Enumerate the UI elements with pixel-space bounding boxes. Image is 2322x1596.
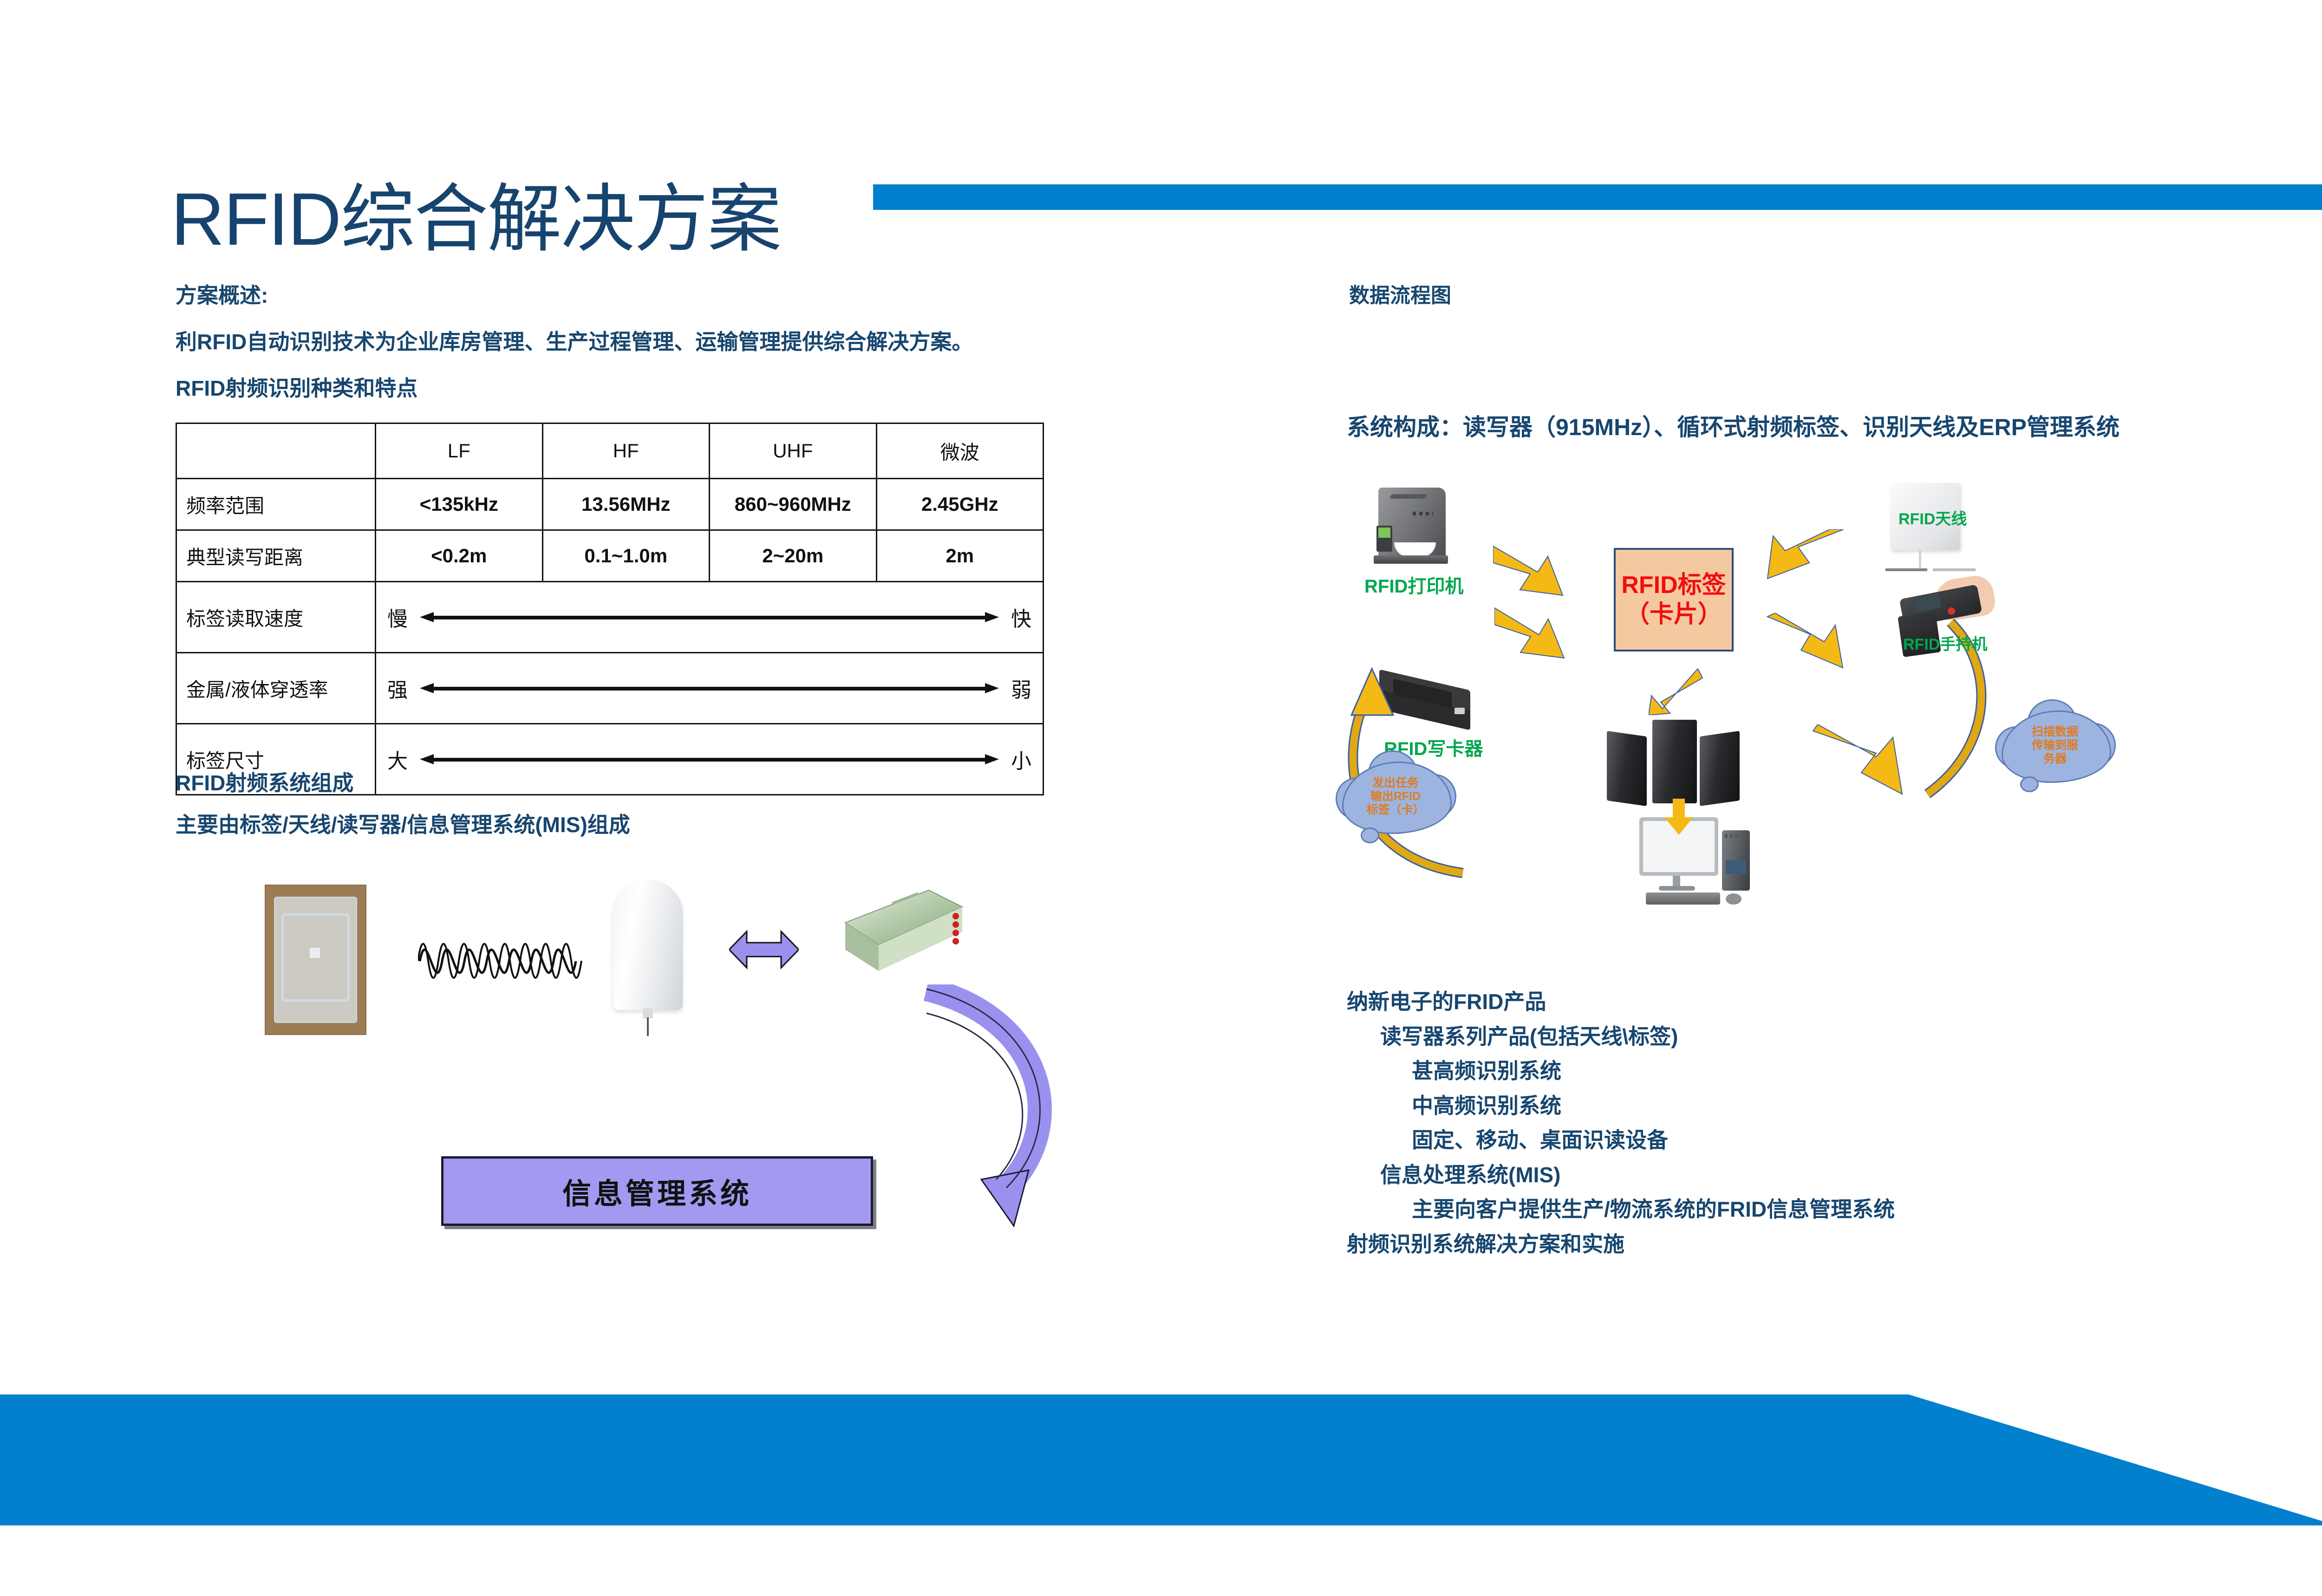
table-col-header [176, 423, 376, 479]
product-list-item: 读写器系列产品(包括天线\标签) [1380, 1019, 1895, 1054]
data-flow-diagram: RFID打印机 RFID写卡器 RFID标签 （卡片） RFID天线 RFID手… [1310, 474, 2127, 961]
product-list-item: 主要向客户提供生产/物流系统的FRID信息管理系统 [1412, 1192, 1895, 1227]
table-header-row: LFHFUHF微波 [176, 423, 1044, 479]
radio-wave-icon [418, 924, 585, 998]
table-row-label: 金属/液体穿透率 [176, 653, 376, 724]
table-cell: 2.45GHz [876, 479, 1044, 530]
cloud-left-line3: 标签（卡） [1366, 803, 1424, 817]
tag-box-line1: RFID标签 [1621, 571, 1726, 599]
server-rack-left [1607, 731, 1647, 806]
arrow-right-label: 小 [1011, 744, 1031, 774]
system-body: 主要由标签/天线/读写器/信息管理系统(MIS)组成 [176, 808, 630, 839]
arrow-left-label: 慢 [387, 602, 408, 632]
table-cell: 860~960MHz [710, 479, 877, 530]
table-row-label: 典型读写距离 [176, 530, 376, 582]
cloud-left-line2: 输出RFID [1370, 790, 1421, 803]
mis-box-label: 信息管理系统 [562, 1170, 752, 1212]
table-arrow-cell: 强弱 [376, 653, 1044, 724]
product-list-item: 固定、移动、桌面识读设备 [1412, 1123, 1895, 1158]
rfid-tag-photo [265, 885, 366, 1035]
overview-body: 利RFID自动识别技术为企业库房管理、生产过程管理、运输管理提供综合解决方案。 [176, 325, 973, 356]
printer-base [1374, 555, 1448, 564]
cloud-right-line2: 传输到服 [2032, 739, 2078, 752]
table-row: 标签读取速度慢快 [176, 582, 1044, 653]
table-cell: 13.56MHz [542, 479, 710, 530]
table-cell: <0.2m [376, 530, 543, 582]
cloud-right-line3: 务器 [2043, 752, 2067, 766]
rfid-comparison-table: LFHFUHF微波频率范围<135kHz13.56MHz860~960MHz2.… [176, 423, 1044, 795]
table-row: 频率范围<135kHz13.56MHz860~960MHz2.45GHz [176, 479, 1044, 530]
pc-tower-bays [1725, 834, 1747, 838]
flow-heading: 数据流程图 [1349, 279, 1451, 308]
product-list-item: 信息处理系统(MIS) [1380, 1158, 1895, 1192]
server-rack-photo [1607, 715, 1746, 803]
arrow-right-label: 弱 [1011, 673, 1031, 703]
rfid-tag-box: RFID标签 （卡片） [1614, 548, 1734, 651]
table-row-label: 标签读取速度 [176, 582, 376, 653]
table-cell: 2~20m [710, 530, 877, 582]
table-row: 金属/液体穿透率强弱 [176, 653, 1044, 724]
top-accent-bar [873, 184, 2322, 210]
printer-label: RFID打印机 [1364, 571, 1463, 598]
rfid-antenna-diagram-photo [1890, 483, 1964, 576]
loop-back-arrow-icon [889, 984, 1084, 1244]
table-arrow-cell: 慢快 [376, 582, 1044, 653]
system-composition: 系统构成：读写器（915MHz）、循环式射频标签、识别天线及ERP管理系统 [1347, 409, 2120, 442]
desktop-computer-photo [1635, 817, 1760, 905]
keyboard [1646, 892, 1720, 905]
tag-chip [310, 948, 320, 958]
table-row: 典型读写距离<0.2m0.1~1.0m2~20m2m [176, 530, 1044, 582]
product-list-item: 射频识别系统解决方案和实施 [1347, 1227, 1895, 1262]
bidirectional-arrow-icon [420, 754, 999, 764]
arrow-server-to-pc-icon [1663, 799, 1695, 836]
arrow-printer-to-tag-icon [1493, 543, 1570, 599]
table-cell: <135kHz [376, 479, 543, 530]
antenna-connector [643, 1008, 653, 1018]
product-list-item: 甚高频识别系统 [1412, 1054, 1895, 1088]
monitor-foot [1659, 886, 1695, 891]
arrow-left-label: 强 [387, 673, 408, 703]
arrow-left-label: 大 [387, 744, 408, 774]
cloud-left: 发出任务 输出RFID 标签（卡） [1342, 762, 1449, 831]
page-title: RFID综合解决方案 [171, 182, 781, 256]
printer-screen [1378, 528, 1390, 538]
bidirectional-arrow-icon [420, 683, 999, 693]
table-row-label: 频率范围 [176, 479, 376, 530]
mis-box: 信息管理系统 [441, 1156, 873, 1226]
product-list: 纳新电子的FRID产品读写器系列产品(包括天线\标签)甚高频识别系统中高频识别系… [1347, 984, 1895, 1261]
arrow-up-to-tag-icon [1649, 669, 1704, 715]
table-col-header: UHF [710, 423, 877, 479]
cloud-right: 扫描数据 传输到服 务器 [2002, 710, 2108, 780]
monitor-stand [1673, 876, 1680, 887]
cloud-right-line1: 扫描数据 [2032, 725, 2078, 739]
bottom-accent-shape [0, 1394, 2322, 1525]
antenna-label: RFID天线 [1898, 506, 1967, 529]
server-rack-center [1652, 720, 1697, 803]
server-rack-right [1700, 731, 1740, 806]
table-col-header: LF [376, 423, 543, 479]
tag-box-line2: （卡片） [1625, 600, 1722, 629]
rfid-reader-photo [836, 880, 975, 996]
slide-canvas: RFID综合解决方案 方案概述: 利RFID自动识别技术为企业库房管理、生产过程… [0, 0, 2322, 1596]
pc-tower-panel [1726, 860, 1746, 874]
table-cell: 0.1~1.0m [542, 530, 710, 582]
arrow-writer-to-tag-icon [1494, 606, 1569, 666]
rfid-antenna-photo [613, 880, 683, 1024]
system-heading: RFID射频系统组成 [176, 766, 353, 797]
antenna-radome [613, 880, 683, 1010]
table-col-header: HF [542, 423, 710, 479]
handheld-label: RFID手持机 [1903, 632, 1987, 654]
printer-leds [1413, 512, 1433, 515]
cloud-left-text: 发出任务 输出RFID 标签（卡） [1342, 762, 1449, 831]
product-list-item: 纳新电子的FRID产品 [1347, 984, 1895, 1019]
mouse [1726, 893, 1741, 905]
arrow-tag-to-antenna-icon [1765, 529, 1844, 590]
rfid-printer-photo [1370, 488, 1454, 569]
types-heading: RFID射频识别种类和特点 [176, 371, 417, 402]
double-arrow-icon [729, 924, 799, 975]
arrow-right-label: 快 [1011, 602, 1031, 632]
table-col-header: 微波 [876, 423, 1044, 479]
cloud-left-line1: 发出任务 [1372, 776, 1419, 790]
table-arrow-cell: 大小 [376, 724, 1044, 795]
product-list-item: 中高频识别系统 [1412, 1088, 1895, 1123]
printer-slot [1389, 494, 1428, 499]
antenna-cable [647, 1017, 649, 1036]
antenna-lead [1919, 549, 1921, 568]
cloud-right-text: 扫描数据 传输到服 务器 [2002, 710, 2108, 780]
overview-heading: 方案概述: [176, 279, 268, 309]
table-cell: 2m [876, 530, 1044, 582]
bidirectional-arrow-icon [420, 612, 999, 622]
